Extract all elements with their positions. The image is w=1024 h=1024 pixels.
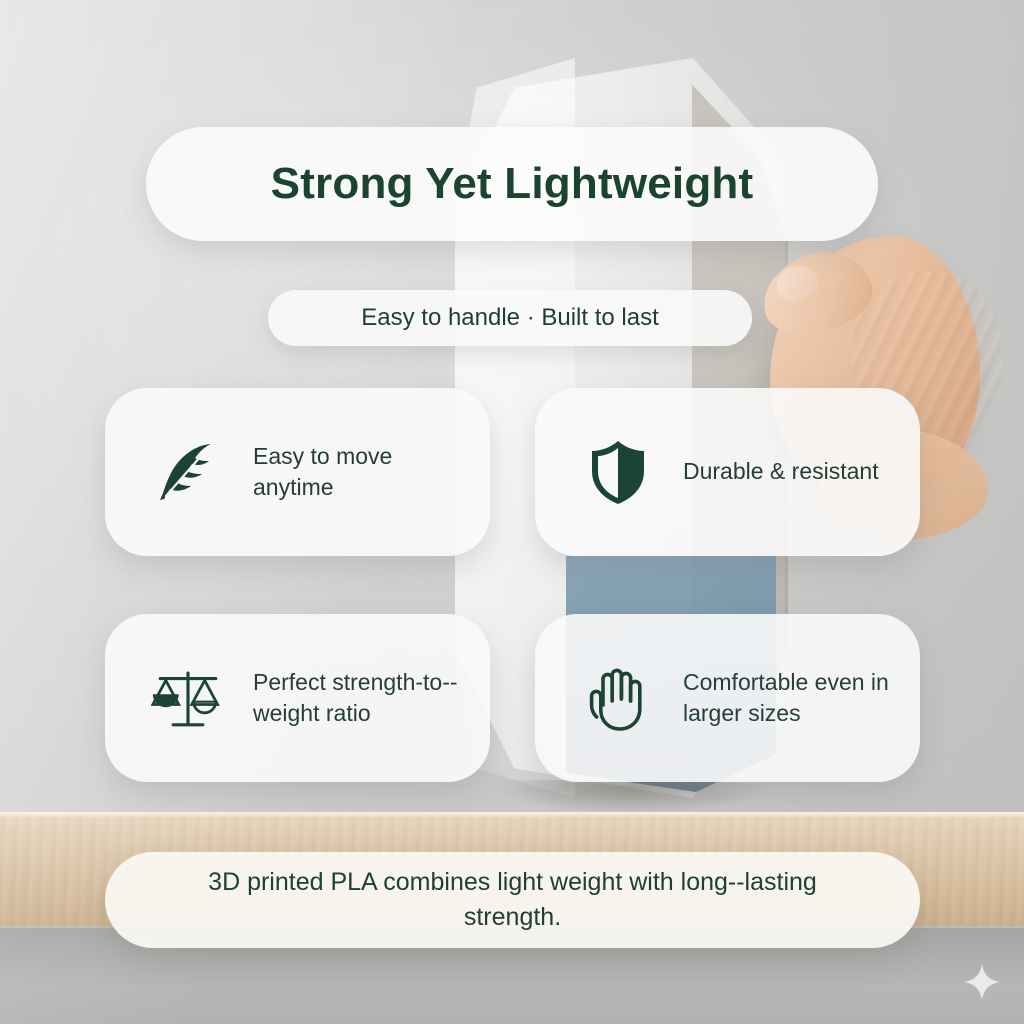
overlay-layer: Strong Yet Lightweight Easy to handle · …: [0, 0, 1024, 1024]
feather-icon: [151, 435, 225, 509]
feature-card-easy-to-move[interactable]: Easy to move anytime: [105, 388, 490, 556]
feature-card-durable[interactable]: Durable & resistant: [535, 388, 920, 556]
subtitle-banner: Easy to handle · Built to last: [268, 290, 752, 346]
feature-label: Durable & resistant: [683, 456, 879, 487]
page-title: Strong Yet Lightweight: [271, 159, 754, 209]
feature-label: Easy to move anytime: [253, 441, 468, 504]
title-banner: Strong Yet Lightweight: [146, 127, 878, 241]
sparkle-icon: [962, 962, 1002, 1002]
feature-label: Comfortable even in larger sizes: [683, 667, 898, 730]
open-hand-icon: [581, 661, 655, 735]
footer-text: 3D printed PLA combines light weight wit…: [163, 865, 863, 935]
balance-scale-icon: [151, 661, 225, 735]
page-subtitle: Easy to handle · Built to last: [361, 304, 659, 332]
shield-icon: [581, 435, 655, 509]
feature-card-comfortable[interactable]: Comfortable even in larger sizes: [535, 614, 920, 782]
feature-label: Perfect strength-to--weight ratio: [253, 667, 468, 730]
promo-graphic: Strong Yet Lightweight Easy to handle · …: [0, 0, 1024, 1024]
footer-banner: 3D printed PLA combines light weight wit…: [105, 852, 920, 948]
feature-card-strength-to-weight[interactable]: Perfect strength-to--weight ratio: [105, 614, 490, 782]
